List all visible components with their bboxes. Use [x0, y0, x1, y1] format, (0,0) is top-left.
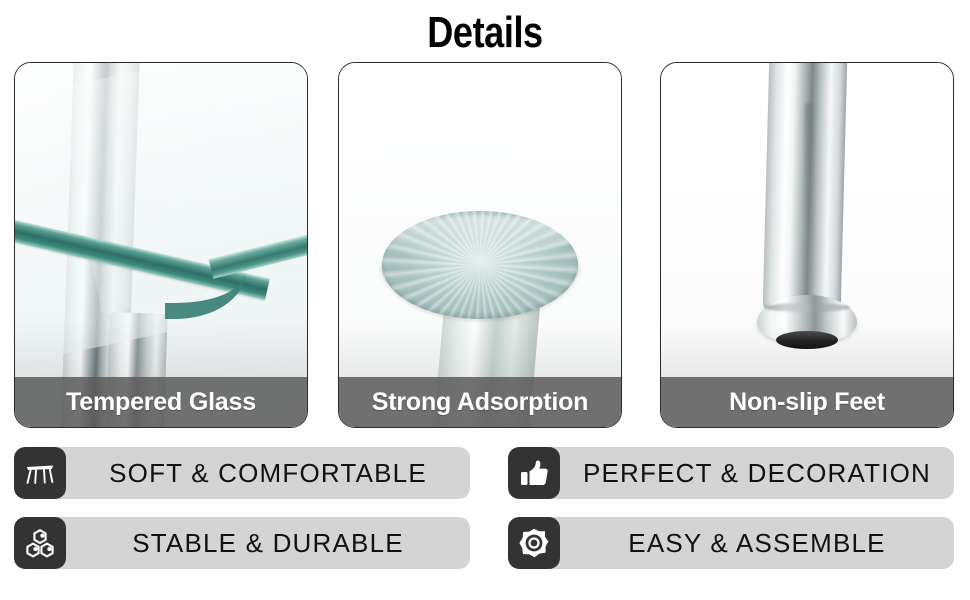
- detail-panel-tempered-glass: Tempered Glass: [14, 62, 308, 428]
- foot-seam-shape: [764, 303, 850, 312]
- table-icon: [14, 447, 66, 499]
- disc-highlight-shape: [390, 215, 570, 261]
- feature-badge-stable-durable: STABLE & DURABLE: [14, 517, 470, 569]
- panel-caption: Tempered Glass: [15, 377, 307, 427]
- photo-bottom-shadow: [15, 317, 307, 377]
- panel-caption: Non-slip Feet: [661, 377, 953, 427]
- feature-badges: SOFT & COMFORTABLE PERFECT & DECORATION: [0, 447, 970, 573]
- feature-badge-easy-assemble: EASY & ASSEMBLE: [508, 517, 954, 569]
- hexagon-cubes-icon: [14, 517, 66, 569]
- photo-bottom-shadow: [339, 327, 621, 377]
- non-slip-feet-photo: [661, 63, 953, 427]
- gear-icon: [508, 517, 560, 569]
- feature-label: SOFT & COMFORTABLE: [66, 458, 470, 489]
- strong-adsorption-photo: [339, 63, 621, 427]
- detail-panel-strong-adsorption: Strong Adsorption: [338, 62, 622, 428]
- feature-badge-perfect-decoration: PERFECT & DECORATION: [508, 447, 954, 499]
- feature-label: STABLE & DURABLE: [66, 528, 470, 559]
- feature-badge-soft-comfortable: SOFT & COMFORTABLE: [14, 447, 470, 499]
- detail-panel-non-slip-feet: Non-slip Feet: [660, 62, 954, 428]
- feature-label: EASY & ASSEMBLE: [560, 528, 954, 559]
- page-title: Details: [87, 8, 882, 58]
- leg-reflection-shape: [805, 103, 813, 303]
- photo-bottom-shadow: [661, 323, 953, 377]
- thumbs-up-icon: [508, 447, 560, 499]
- detail-panels: Tempered Glass Strong Adsorption Non-sli…: [0, 62, 970, 430]
- feature-label: PERFECT & DECORATION: [560, 458, 954, 489]
- tempered-glass-photo: [15, 63, 307, 427]
- panel-caption: Strong Adsorption: [339, 377, 621, 427]
